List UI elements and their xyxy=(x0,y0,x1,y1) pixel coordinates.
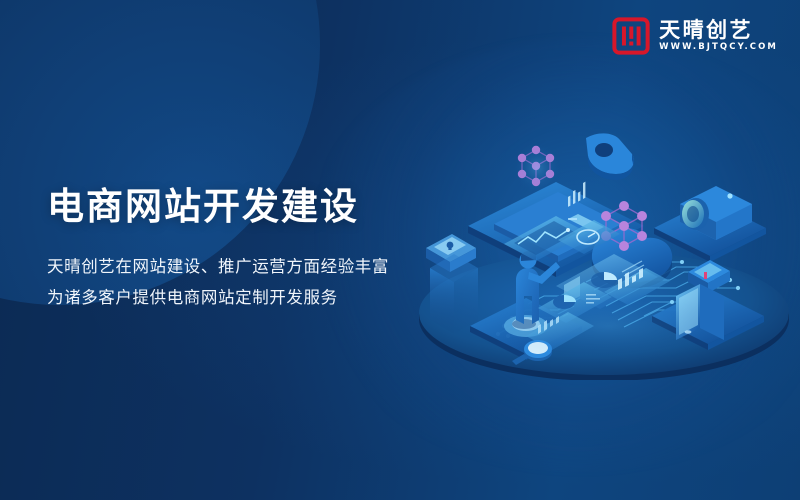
page-title: 电商网站开发建设 xyxy=(47,186,447,229)
left-pillar xyxy=(430,254,478,334)
logo-website-url: WWW.BJTQCY.COM xyxy=(659,41,778,54)
ring-shape xyxy=(586,133,634,180)
subtitle-line-1: 天晴创艺在网站建设、推广运营方面经验丰富 xyxy=(47,251,447,283)
illustration-svg xyxy=(408,120,800,380)
copy-block: 电商网站开发建设 天晴创艺在网站建设、推广运营方面经验丰富 为诸多客户提供电商网… xyxy=(47,186,447,314)
promotional-banner: 天晴创艺 WWW.BJTQCY.COM 电商网站开发建设 天晴创艺在网站建设、推… xyxy=(0,0,800,500)
isometric-illustration xyxy=(408,120,800,380)
subtitle-line-2: 为诸多客户提供电商网站定制开发服务 xyxy=(47,282,447,314)
logo-mark-icon xyxy=(612,17,650,55)
brand-logo[interactable]: 天晴创艺 WWW.BJTQCY.COM xyxy=(612,17,778,55)
logo-text-block: 天晴创艺 WWW.BJTQCY.COM xyxy=(659,19,778,54)
logo-company-name: 天晴创艺 xyxy=(659,19,778,41)
molecule-cluster-left xyxy=(514,144,560,192)
